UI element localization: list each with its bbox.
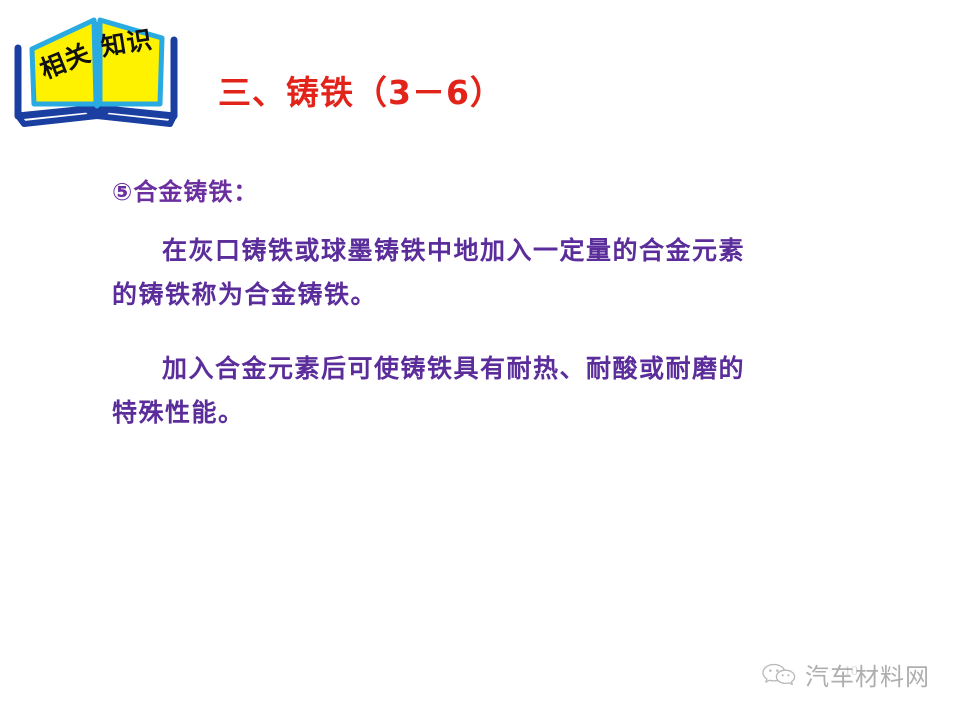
open-book-badge: 相关 知识 [12, 4, 182, 134]
paragraph-1-line-2: 的铸铁称为合金铸铁。 [112, 273, 902, 317]
wechat-icon [762, 662, 796, 688]
watermark-text: 汽车材料网 [805, 657, 930, 692]
paragraph-1: 在灰口铸铁或球墨铸铁中地加入一定量的合金元素 的铸铁称为合金铸铁。 [112, 229, 902, 317]
paragraph-2-line-2: 特殊性能。 [112, 391, 902, 435]
content-body: ⑤合金铸铁： 在灰口铸铁或球墨铸铁中地加入一定量的合金元素 的铸铁称为合金铸铁。… [112, 178, 902, 435]
paragraph-1-line-1: 在灰口铸铁或球墨铸铁中地加入一定量的合金元素 [112, 229, 902, 273]
page-title: 三、铸铁（3－6） [218, 66, 504, 114]
watermark: 汽车材料网 [762, 657, 930, 692]
open-book-icon [12, 4, 182, 134]
section-heading: ⑤合金铸铁： [112, 178, 902, 207]
paragraph-2: 加入合金元素后可使铸铁具有耐热、耐酸或耐磨的 特殊性能。 [112, 347, 902, 435]
slide-canvas: 相关 知识 三、铸铁（3－6） ⑤合金铸铁： 在灰口铸铁或球墨铸铁中地加入一定量… [0, 0, 960, 720]
paragraph-2-line-1: 加入合金元素后可使铸铁具有耐热、耐酸或耐磨的 [112, 347, 902, 391]
